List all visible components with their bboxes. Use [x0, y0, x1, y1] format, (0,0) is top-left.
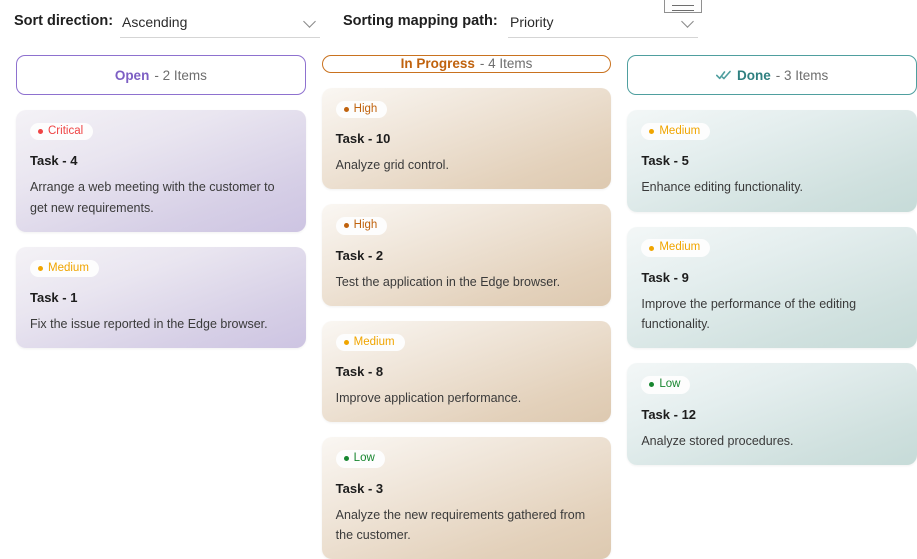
card-list-done: MediumTask - 5Enhance editing functional… — [627, 110, 917, 465]
card-list-inprogress: HighTask - 10Analyze grid control.HighTa… — [322, 88, 612, 559]
card-list-open: CriticalTask - 4Arrange a web meeting wi… — [16, 110, 306, 348]
card-description: Arrange a web meeting with the customer … — [30, 177, 292, 218]
card-description: Improve the performance of the editing f… — [641, 294, 903, 335]
chevron-down-icon[interactable] — [680, 14, 696, 30]
card-title: Task - 10 — [336, 131, 598, 146]
priority-label: Medium — [659, 242, 700, 254]
priority-dot-icon — [38, 129, 43, 134]
kanban-column-open: Open- 2 ItemsCriticalTask - 4Arrange a w… — [16, 55, 306, 559]
card-description: Analyze grid control. — [336, 155, 598, 175]
priority-dot-icon — [344, 456, 349, 461]
sort-direction-value: Ascending — [120, 14, 302, 30]
priority-label: Medium — [659, 126, 700, 138]
sort-direction-label: Sort direction: — [14, 13, 113, 29]
card-description: Analyze the new requirements gathered fr… — [336, 505, 598, 546]
kanban-board: Open- 2 ItemsCriticalTask - 4Arrange a w… — [0, 55, 917, 559]
priority-dot-icon — [649, 246, 654, 251]
priority-badge: Medium — [641, 239, 710, 257]
card-title: Task - 3 — [336, 481, 598, 496]
card-description: Test the application in the Edge browser… — [336, 272, 598, 292]
priority-dot-icon — [38, 266, 43, 271]
kanban-card[interactable]: LowTask - 12Analyze stored procedures. — [627, 363, 917, 465]
priority-badge: Critical — [30, 123, 93, 141]
priority-dot-icon — [344, 223, 349, 228]
kanban-card[interactable]: MediumTask - 1Fix the issue reported in … — [16, 247, 306, 349]
priority-dot-icon — [649, 129, 654, 134]
sorting-mapping-path-label: Sorting mapping path: — [343, 13, 498, 29]
priority-dot-icon — [344, 107, 349, 112]
card-description: Analyze stored procedures. — [641, 431, 903, 451]
sorting-mapping-path-value: Priority — [508, 14, 680, 30]
priority-label: Low — [354, 453, 375, 465]
priority-label: Medium — [354, 337, 395, 349]
column-title: In Progress — [401, 56, 475, 71]
priority-label: Critical — [48, 126, 83, 138]
priority-badge: High — [336, 101, 388, 119]
column-item-count: - 2 Items — [154, 68, 207, 83]
kanban-card[interactable]: HighTask - 2Test the application in the … — [322, 204, 612, 306]
kanban-card[interactable]: LowTask - 3Analyze the new requirements … — [322, 437, 612, 559]
priority-badge: Medium — [336, 334, 405, 352]
card-title: Task - 8 — [336, 364, 598, 379]
chevron-down-icon[interactable] — [302, 14, 318, 30]
list-line — [672, 10, 694, 11]
kanban-card[interactable]: MediumTask - 9Improve the performance of… — [627, 227, 917, 349]
priority-badge: High — [336, 217, 388, 235]
card-description: Improve application performance. — [336, 388, 598, 408]
priority-label: High — [354, 220, 378, 232]
priority-label: High — [354, 104, 378, 116]
column-header-done[interactable]: Done- 3 Items — [627, 55, 917, 95]
priority-dot-icon — [649, 382, 654, 387]
kanban-column-done: Done- 3 ItemsMediumTask - 5Enhance editi… — [627, 55, 917, 559]
column-item-count: - 3 Items — [776, 68, 829, 83]
kanban-card[interactable]: CriticalTask - 4Arrange a web meeting wi… — [16, 110, 306, 232]
priority-badge: Medium — [641, 123, 710, 141]
column-header-open[interactable]: Open- 2 Items — [16, 55, 306, 95]
priority-badge: Low — [336, 450, 385, 468]
card-title: Task - 9 — [641, 270, 903, 285]
priority-badge: Medium — [30, 260, 99, 278]
sort-direction-dropdown[interactable]: Ascending — [120, 7, 320, 38]
list-lines-icon[interactable] — [664, 0, 702, 13]
priority-label: Low — [659, 379, 680, 391]
priority-dot-icon — [344, 340, 349, 345]
card-description: Enhance editing functionality. — [641, 177, 903, 197]
column-title: Open — [115, 68, 150, 83]
card-title: Task - 5 — [641, 153, 903, 168]
card-title: Task - 4 — [30, 153, 292, 168]
column-item-count: - 4 Items — [480, 56, 533, 71]
list-line — [672, 5, 694, 6]
card-title: Task - 2 — [336, 248, 598, 263]
toolbar: Sort direction: Ascending Sorting mappin… — [0, 0, 917, 44]
priority-label: Medium — [48, 263, 89, 275]
column-title: Done — [737, 68, 771, 83]
card-description: Fix the issue reported in the Edge brows… — [30, 314, 292, 334]
column-header-inprogress[interactable]: In Progress- 4 Items — [322, 55, 612, 73]
priority-badge: Low — [641, 376, 690, 394]
kanban-card[interactable]: HighTask - 10Analyze grid control. — [322, 88, 612, 190]
kanban-card[interactable]: MediumTask - 5Enhance editing functional… — [627, 110, 917, 212]
double-check-icon — [716, 68, 732, 82]
kanban-card[interactable]: MediumTask - 8Improve application perfor… — [322, 321, 612, 423]
card-title: Task - 12 — [641, 407, 903, 422]
card-title: Task - 1 — [30, 290, 292, 305]
kanban-column-inprogress: In Progress- 4 ItemsHighTask - 10Analyze… — [322, 55, 612, 559]
